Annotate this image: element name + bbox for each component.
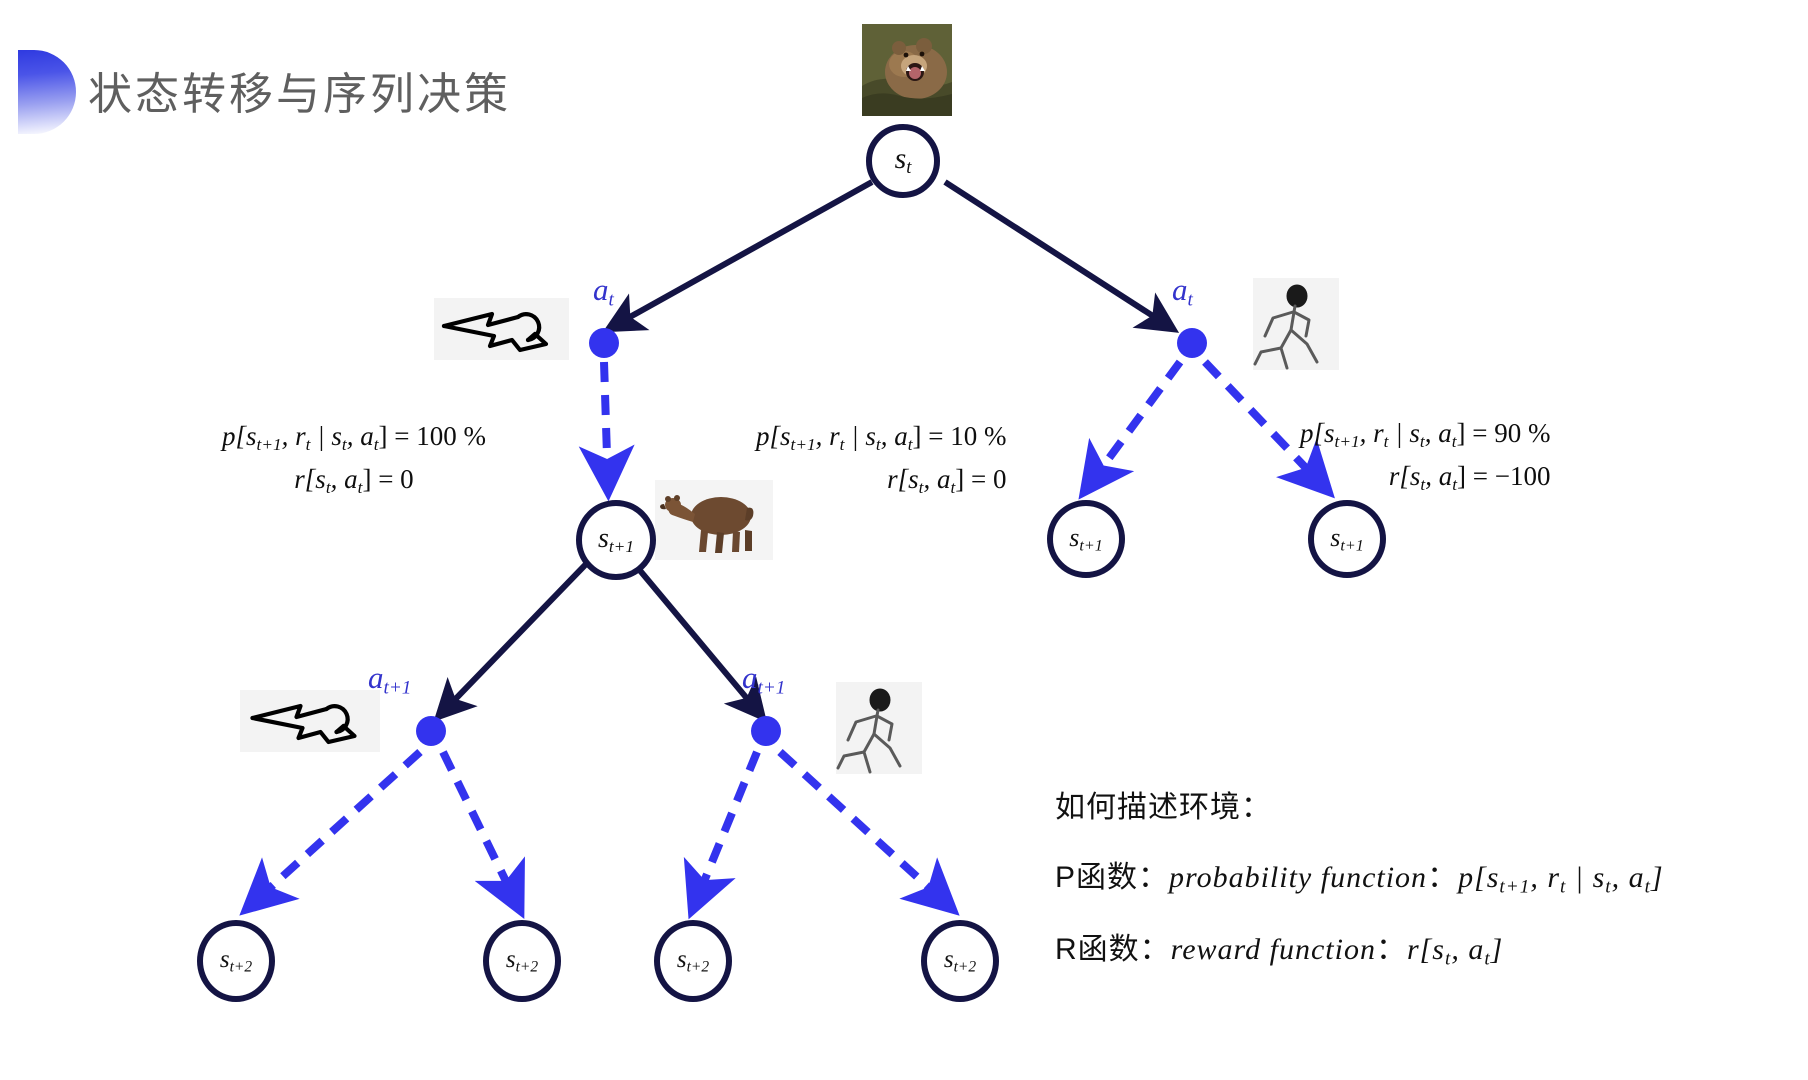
legend-p-en: probability function — [1169, 861, 1427, 894]
state-node-label: st+2 — [944, 946, 976, 976]
annotation-middle: p[st+1, rt | st, at] = 10 % r[st, at] = … — [756, 415, 1006, 501]
legend-row-r-function: R函数：reward function：r[st, at] — [1055, 924, 1664, 970]
lying-person-icon — [240, 690, 380, 752]
legend-p-formula: p[st+1, rt | st, at] — [1458, 861, 1664, 894]
state-node-s-t-plus-2-4[interactable]: st+2 — [921, 920, 999, 1002]
state-node-root[interactable]: st — [866, 124, 940, 198]
roaring-bear-photo — [862, 24, 952, 116]
legend-block: 如何描述环境： P函数：probability function：p[st+1,… — [1055, 782, 1664, 997]
state-node-label: st — [895, 142, 912, 179]
action-label-a-t-right: at — [1172, 272, 1193, 311]
action-node-a-t-plus-1-right[interactable] — [751, 716, 781, 746]
state-node-s-t-plus-1-middle[interactable]: st+1 — [1047, 500, 1125, 578]
action-label-a-t-plus-1-right: at+1 — [742, 660, 785, 699]
action-label-a-t-left: at — [593, 272, 614, 311]
legend-r-en: reward function — [1171, 933, 1376, 966]
legend-r-label: R函数： — [1055, 933, 1171, 966]
slide-canvas: 状态转移与序列决策 — [0, 0, 1808, 1080]
action-label-a-t-plus-1-left: at+1 — [368, 660, 411, 699]
running-person-icon — [1253, 278, 1339, 370]
state-node-label: st+1 — [1069, 523, 1103, 556]
annotation-right: p[st+1, rt | st, at] = 90 % r[st, at] = … — [1300, 412, 1550, 498]
action-node-a-t-left[interactable] — [589, 328, 619, 358]
state-node-s-t-plus-2-3[interactable]: st+2 — [654, 920, 732, 1002]
legend-row-p-function: P函数：probability function：p[st+1, rt | st… — [1055, 852, 1664, 898]
state-node-label: st+2 — [506, 946, 538, 976]
state-node-s-t-plus-2-1[interactable]: st+2 — [197, 920, 275, 1002]
state-node-label: st+1 — [1330, 523, 1364, 556]
state-node-label: st+1 — [598, 523, 634, 557]
annotation-right-reward: r[st, at] = −100 — [1300, 455, 1550, 498]
state-node-label: st+2 — [220, 946, 252, 976]
state-node-s-t-plus-2-2[interactable]: st+2 — [483, 920, 561, 1002]
annotation-middle-probability: p[st+1, rt | st, at] = 10 % — [756, 415, 1006, 458]
state-node-s-t-plus-1-right[interactable]: st+1 — [1308, 500, 1386, 578]
state-node-label: st+2 — [677, 946, 709, 976]
annotation-left-reward: r[st, at] = 0 — [222, 458, 486, 501]
annotation-left-probability: p[st+1, rt | st, at] = 100 % — [222, 415, 486, 458]
lying-person-icon — [434, 298, 569, 360]
running-person-icon — [836, 682, 922, 774]
legend-r-formula: r[st, at] — [1407, 933, 1503, 966]
action-node-a-t-right[interactable] — [1177, 328, 1207, 358]
legend-heading: 如何描述环境： — [1055, 782, 1664, 826]
legend-p-label: P函数： — [1055, 861, 1169, 894]
annotation-left: p[st+1, rt | st, at] = 100 % r[st, at] =… — [222, 415, 486, 501]
annotation-middle-reward: r[st, at] = 0 — [756, 458, 1006, 501]
state-node-s-t-plus-1-left[interactable]: st+1 — [576, 500, 656, 580]
annotation-right-probability: p[st+1, rt | st, at] = 90 % — [1300, 412, 1550, 455]
action-node-a-t-plus-1-left[interactable] — [416, 716, 446, 746]
